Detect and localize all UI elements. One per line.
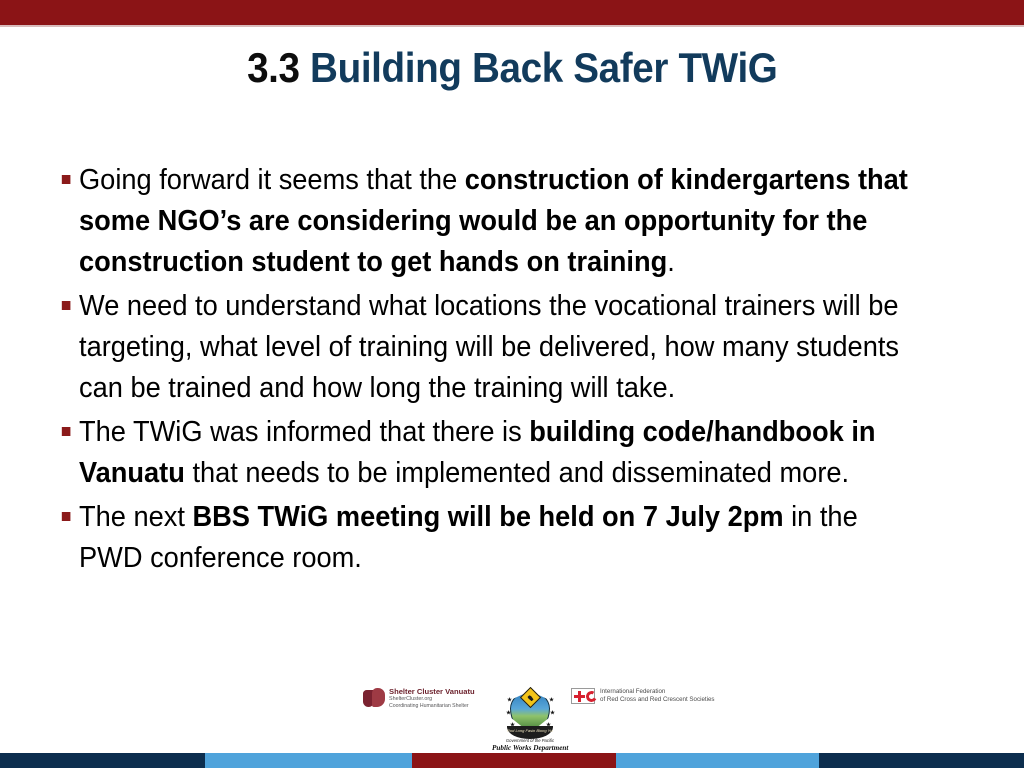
segment-blue-left xyxy=(205,753,412,768)
bullet-square-icon xyxy=(62,427,71,436)
bullet-item-2: We need to understand what locations the… xyxy=(58,286,927,409)
pwd-department-name: Public Works Department xyxy=(492,744,568,753)
ifrc-logo: International Federation of Red Cross an… xyxy=(571,687,721,713)
pwd-crest-icon: Rod Long Fasin Blong Yumi xyxy=(506,688,554,738)
segment-blue-right xyxy=(616,753,819,768)
shelter-cluster-logo: Shelter Cluster Vanuatu ShelterCluster.o… xyxy=(363,687,493,717)
shelter-roof-icon xyxy=(363,688,385,710)
partner-logo-strip: Shelter Cluster Vanuatu ShelterCluster.o… xyxy=(0,684,1024,752)
bullet-text-3: The TWiG was informed that there is buil… xyxy=(79,416,876,489)
ifrc-line-1: International Federation xyxy=(600,688,715,696)
top-bar-underline xyxy=(0,25,1024,27)
bullet-square-icon xyxy=(62,175,71,184)
bullet-square-icon xyxy=(62,301,71,310)
shelter-cluster-name: Shelter Cluster Vanuatu xyxy=(389,687,475,696)
shelter-cluster-tagline: Coordinating Humanitarian Shelter xyxy=(389,703,475,710)
page-title: 3.3 Building Back Safer TWiG xyxy=(247,44,777,92)
title-text: Building Back Safer TWiG xyxy=(299,44,777,91)
top-decorative-bar xyxy=(0,0,1024,25)
bullet-text-2: We need to understand what locations the… xyxy=(79,290,899,404)
segment-navy-left xyxy=(0,753,205,768)
bullet-text-4: The next BBS TWiG meeting will be held o… xyxy=(79,501,858,574)
ifrc-line-2: of Red Cross and Red Crescent Societies xyxy=(600,696,715,704)
segment-red-center xyxy=(412,753,617,768)
bullet-square-icon xyxy=(62,512,71,521)
shelter-cluster-url: ShelterCluster.org xyxy=(389,696,475,703)
bottom-decorative-bar xyxy=(0,753,1024,768)
segment-navy-right xyxy=(819,753,1024,768)
title-number: 3.3 xyxy=(247,44,300,91)
red-cross-red-crescent-icon xyxy=(571,688,595,704)
bullet-item-4: The next BBS TWiG meeting will be held o… xyxy=(58,497,927,579)
slide-body: Going forward it seems that the construc… xyxy=(58,160,968,582)
public-works-department-logo: Rod Long Fasin Blong Yumi Government of … xyxy=(492,688,568,752)
pwd-ribbon-text: Rod Long Fasin Blong Yumi xyxy=(507,726,553,735)
bullet-text-1: Going forward it seems that the construc… xyxy=(79,164,908,278)
bullet-item-1: Going forward it seems that the construc… xyxy=(58,160,927,283)
title-area: 3.3 Building Back Safer TWiG xyxy=(0,44,1024,92)
bullet-item-3: The TWiG was informed that there is buil… xyxy=(58,412,927,494)
